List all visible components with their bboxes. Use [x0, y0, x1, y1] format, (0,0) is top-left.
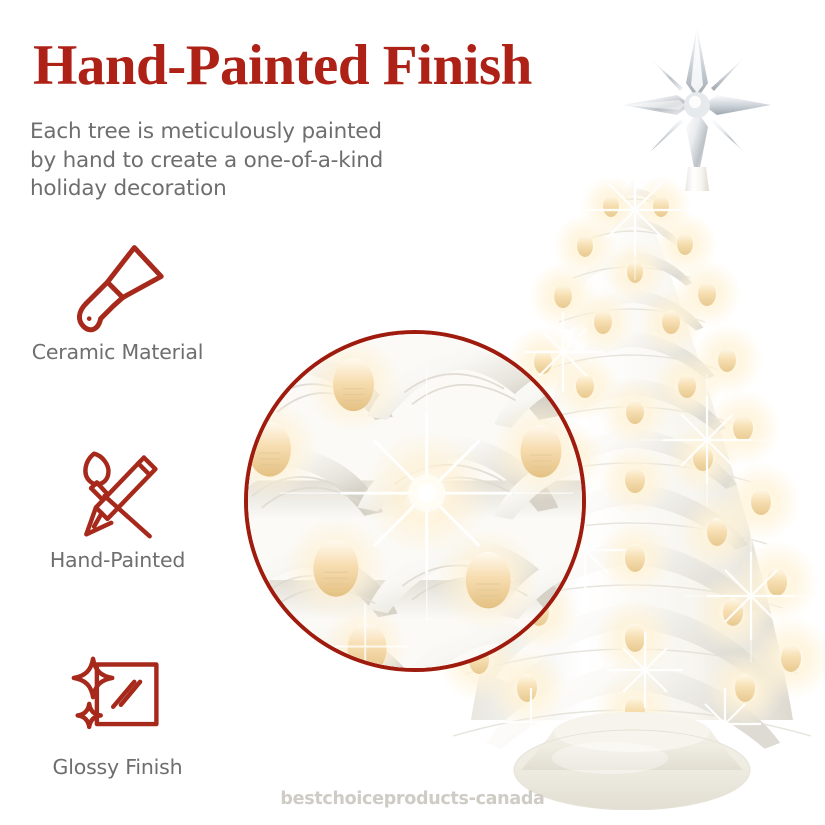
feature-label: Hand-Painted: [0, 548, 235, 572]
feature-glossy-finish: Glossy Finish: [0, 653, 235, 779]
paintbrush-pencil-icon: [63, 446, 173, 542]
page-title: Hand-Painted Finish: [33, 36, 532, 96]
detail-magnifier: [244, 330, 586, 672]
putty-knife-icon: [63, 238, 173, 334]
glossy-square-sparkle-icon: [63, 653, 173, 749]
site-watermark: bestchoiceproducts-canada: [0, 789, 825, 809]
product-feature-graphic: Hand-Painted Finish Each tree is meticul…: [0, 0, 825, 825]
eight-point-crystal-star: [623, 27, 771, 191]
feature-label: Ceramic Material: [0, 340, 235, 364]
subtitle-line-2: by hand to create a one-of-a-kind: [30, 147, 500, 176]
feature-ceramic-material: Ceramic Material: [0, 238, 235, 364]
page-subtitle: Each tree is meticulously painted by han…: [30, 118, 500, 204]
feature-label: Glossy Finish: [0, 755, 235, 779]
feature-hand-painted: Hand-Painted: [0, 446, 235, 572]
subtitle-line-3: holiday decoration: [30, 175, 500, 204]
ceramic-tree-branch-closeup: [248, 334, 582, 668]
subtitle-line-1: Each tree is meticulously painted: [30, 118, 500, 147]
